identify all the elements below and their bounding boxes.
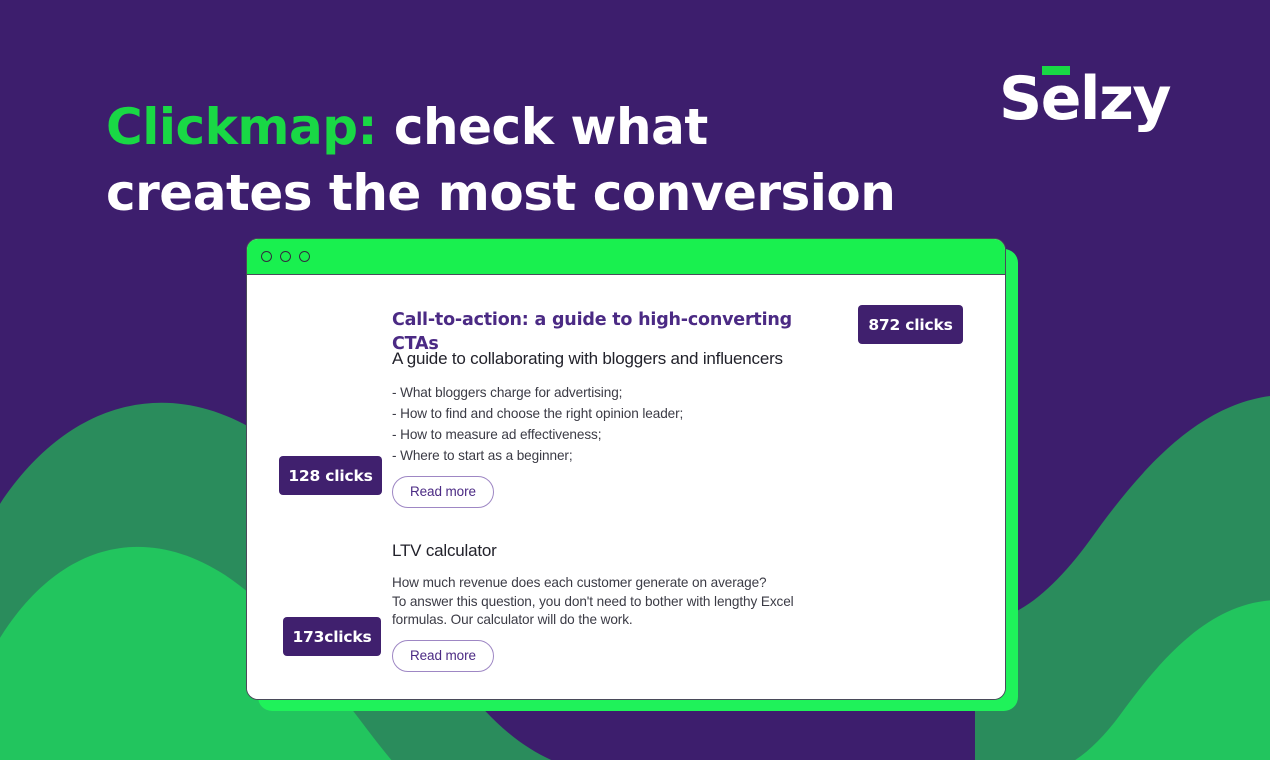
article-2-paragraph-line-3: formulas. Our calculator will do the wor…	[392, 612, 633, 627]
close-dot-icon[interactable]	[261, 251, 272, 262]
macron-icon	[1042, 66, 1070, 75]
headline-accent: Clickmap:	[106, 98, 377, 156]
list-item: - What bloggers charge for advertising;	[392, 382, 965, 403]
article-2-paragraph-line-1: How much revenue does each customer gene…	[392, 575, 767, 590]
read-more-button-article-2[interactable]: Read more	[392, 640, 494, 672]
article-1-subtitle: A guide to collaborating with bloggers a…	[392, 349, 965, 369]
logo-letter-e-wrap: e	[1041, 62, 1080, 136]
click-badge-128: 128 clicks	[279, 456, 382, 495]
selzy-logo: Selzy	[999, 62, 1170, 136]
logo-letters-lzy: lzy	[1080, 64, 1170, 134]
list-item: - How to find and choose the right opini…	[392, 403, 965, 424]
article-ltv-calculator: LTV calculator How much revenue does eac…	[392, 540, 965, 672]
page-title: Clickmap: check what creates the most co…	[106, 94, 896, 226]
poster-canvas: Clickmap: check what creates the most co…	[0, 0, 1270, 760]
list-item: - Where to start as a beginner;	[392, 445, 965, 466]
article-2-title[interactable]: LTV calculator	[392, 540, 965, 561]
read-more-button-article-1[interactable]: Read more	[392, 476, 494, 508]
click-badge-173: 173clicks	[283, 617, 381, 656]
logo-letter-s: S	[999, 64, 1041, 134]
click-badge-872: 872 clicks	[858, 305, 963, 344]
article-2-paragraph: How much revenue does each customer gene…	[392, 574, 882, 630]
minimize-dot-icon[interactable]	[280, 251, 291, 262]
article-2-paragraph-line-2: To answer this question, you don't need …	[392, 594, 794, 609]
list-item: - How to measure ad effectiveness;	[392, 424, 965, 445]
browser-titlebar	[247, 239, 1005, 275]
article-1-bullet-list: - What bloggers charge for advertising; …	[392, 382, 965, 466]
maximize-dot-icon[interactable]	[299, 251, 310, 262]
